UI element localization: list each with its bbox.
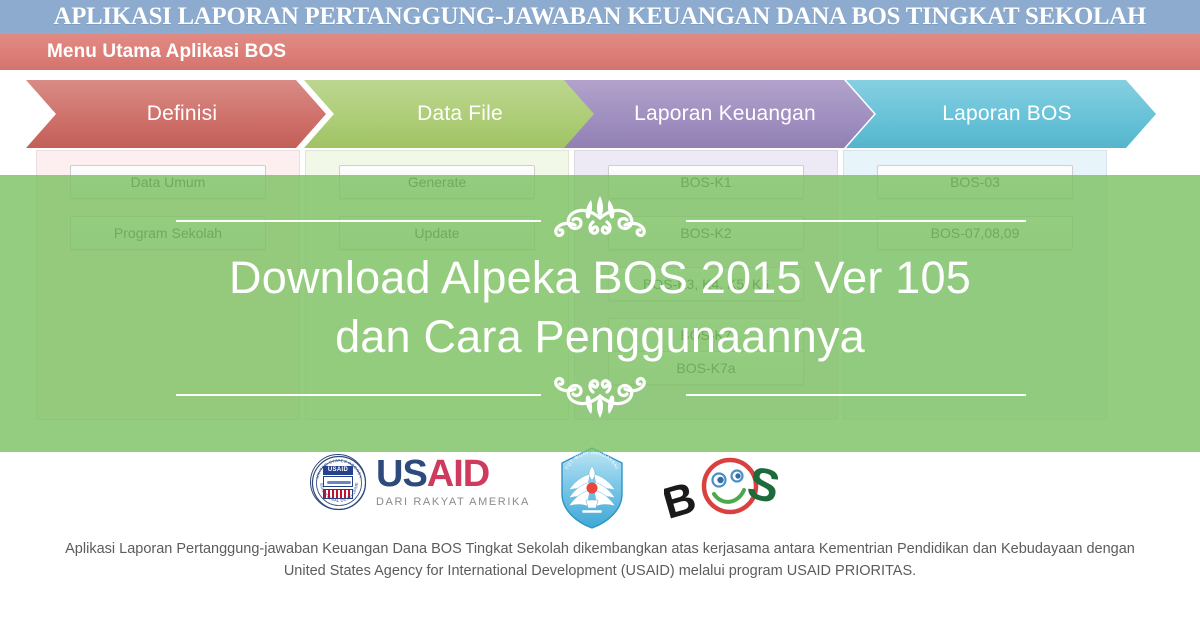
- bos-logo-letter-s: S: [743, 456, 785, 514]
- usaid-word-us: US: [376, 453, 427, 495]
- usaid-tagline: DARI RAKYAT AMERIKA: [376, 496, 530, 508]
- tab-row: Definisi Data File Laporan Keuangan Lapo…: [0, 80, 1200, 148]
- divider-bottom-left: [176, 394, 541, 396]
- tab-data-file[interactable]: Data File: [304, 80, 604, 148]
- divider-top-right: [686, 220, 1026, 222]
- footer-text: Aplikasi Laporan Pertanggung-jawaban Keu…: [60, 538, 1140, 583]
- menu-title: Menu Utama Aplikasi BOS: [47, 41, 286, 63]
- flourish-ornament-bottom-icon: [535, 372, 665, 420]
- tab-definisi[interactable]: Definisi: [26, 80, 326, 148]
- app-title-bar: APLIKASI LAPORAN PERTANGGUNG-JAWABAN KEU…: [0, 0, 1200, 34]
- bos-logo-icon: B S: [664, 454, 794, 524]
- usaid-wordmark-text: USAID: [376, 456, 530, 492]
- tab-laporan-bos-label: Laporan BOS: [942, 102, 1071, 126]
- page-root: APLIKASI LAPORAN PERTANGGUNG-JAWABAN KEU…: [0, 0, 1200, 630]
- overlay-headline: Download Alpeka BOS 2015 Ver 105 dan Car…: [0, 248, 1200, 367]
- usaid-seal-handshake-icon: [323, 476, 353, 487]
- tab-laporan-bos[interactable]: Laporan BOS: [846, 80, 1156, 148]
- app-title: APLIKASI LAPORAN PERTANGGUNG-JAWABAN KEU…: [54, 3, 1147, 31]
- divider-top-left: [176, 220, 541, 222]
- tab-definisi-label: Definisi: [147, 102, 217, 126]
- usaid-word-aid: AID: [427, 453, 489, 495]
- usaid-seal-icon: UNITED STATES AGENCY INTERNATIONAL DEVEL…: [310, 454, 366, 510]
- usaid-wordmark: USAID DARI RAKYAT AMERIKA: [376, 456, 530, 507]
- usaid-logo: UNITED STATES AGENCY INTERNATIONAL DEVEL…: [310, 454, 530, 510]
- tab-laporan-keuangan-label: Laporan Keuangan: [634, 102, 816, 126]
- tab-data-file-label: Data File: [417, 102, 503, 126]
- kemdikbud-tutwuri-logo-icon: TUT WURI HANDAYANI: [552, 444, 632, 532]
- bos-logo-letter-b: B: [664, 473, 701, 524]
- flourish-ornament-top-icon: [535, 194, 665, 242]
- menu-bar: Menu Utama Aplikasi BOS: [0, 34, 1200, 70]
- logo-strip: UNITED STATES AGENCY INTERNATIONAL DEVEL…: [0, 452, 1200, 532]
- divider-bottom-right: [686, 394, 1026, 396]
- tab-laporan-keuangan[interactable]: Laporan Keuangan: [564, 80, 874, 148]
